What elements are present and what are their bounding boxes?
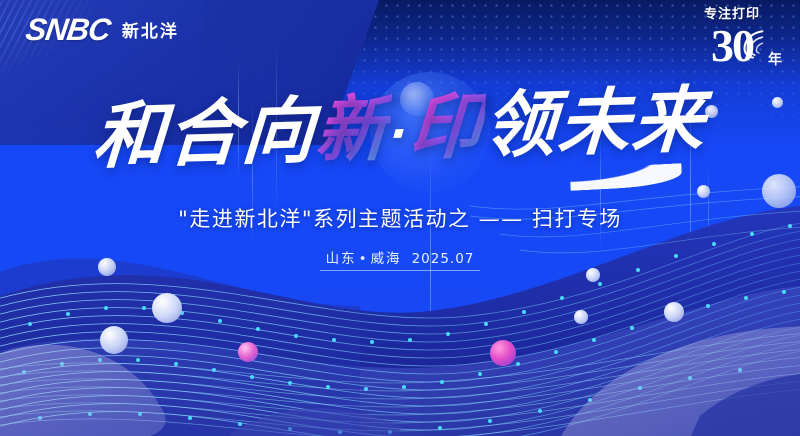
decorative-sphere: [697, 185, 710, 198]
logo-wordmark: SNBC: [24, 14, 112, 45]
main-title: 和合向新·印领未来: [91, 83, 708, 172]
decorative-sphere-pink-small: [238, 342, 258, 362]
banner-header: SNBC 新北洋 专注打印 30 年: [0, 0, 800, 66]
title-part-1: 和合向: [91, 88, 318, 178]
anniversary-badge: 专注打印 30 年: [680, 8, 784, 82]
title-part-3-gradient: 印: [407, 84, 486, 170]
location-separator: •: [357, 251, 371, 267]
logo-chinese-name: 新北洋: [122, 17, 179, 42]
decorative-sphere: [574, 310, 588, 324]
title-part-2-gradient: 新: [314, 86, 393, 172]
anniversary-unit: 年: [768, 53, 782, 67]
title-part-4: 领未来: [481, 77, 708, 167]
main-title-block: 和合向新·印领未来: [0, 92, 800, 164]
event-subtitle: "走进新北洋"系列主题活动之 —— 扫打专场: [0, 203, 800, 233]
decorative-sphere: [152, 293, 182, 323]
decorative-sphere: [664, 302, 684, 322]
anniversary-number-row: 30 年: [680, 23, 784, 69]
dateline-inner: 山东•威海2025.07: [320, 247, 481, 271]
decorative-sphere-pink: [490, 340, 516, 366]
event-dateline: 山东•威海2025.07: [0, 247, 800, 271]
swirl-icon: [736, 27, 770, 61]
decorative-sphere: [100, 326, 128, 354]
snbc-logo: SNBC 新北洋: [26, 14, 179, 45]
event-province: 山东: [326, 251, 357, 267]
event-date: 2025.07: [412, 251, 475, 267]
event-city: 威海: [371, 251, 402, 267]
event-banner: SNBC 新北洋 专注打印 30 年 和合向新·印领未来 "走进新北洋"系列主题…: [0, 0, 800, 436]
